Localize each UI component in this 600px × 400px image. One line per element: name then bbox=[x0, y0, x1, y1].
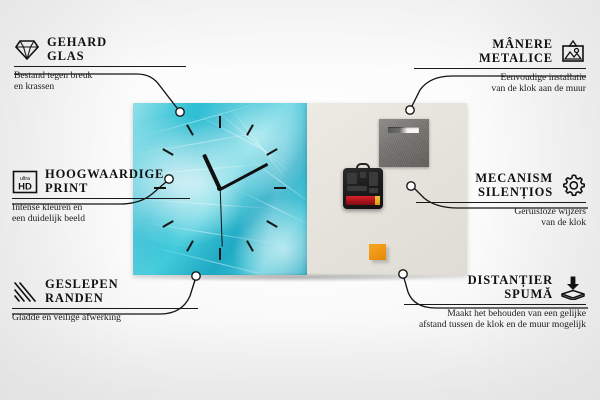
callout-title: DISTANȚIER SPUMĂ bbox=[468, 274, 553, 301]
mechanism-detail bbox=[347, 186, 367, 191]
callout-rule bbox=[416, 202, 586, 203]
callout-subtitle: Eenvoudige installatie van de klok aan d… bbox=[414, 72, 586, 95]
clock-tick bbox=[274, 187, 286, 189]
metal-hanger-plate bbox=[379, 119, 429, 167]
callout-head: GEHARD GLAS bbox=[14, 36, 186, 63]
hanger-slot bbox=[388, 127, 419, 133]
callout-title: HOOGWAARDIGE PRINT bbox=[45, 168, 164, 195]
mechanism-detail bbox=[369, 172, 378, 186]
callout-title: MECANISM SILENȚIOS bbox=[475, 172, 553, 199]
callout-gehard-glas[interactable]: GEHARD GLAS Bestand tegen breuk en krass… bbox=[14, 36, 186, 93]
mechanism-detail bbox=[360, 172, 366, 178]
callout-subtitle: Maakt het behouden van een gelijke afsta… bbox=[404, 308, 586, 331]
callout-title: MÂNERE METALICE bbox=[479, 38, 553, 65]
callout-geslepen-randen[interactable]: GESLEPEN RANDEN Gladde en veilige afwerk… bbox=[12, 278, 198, 323]
clock-mechanism bbox=[343, 168, 383, 209]
callout-subtitle: Geruisloze wijzers van de klok bbox=[416, 206, 586, 229]
gear-icon bbox=[560, 173, 586, 199]
callout-rule bbox=[14, 66, 186, 67]
mechanism-detail bbox=[369, 188, 378, 193]
infographic-canvas: GEHARD GLAS Bestand tegen breuk en krass… bbox=[0, 0, 600, 400]
callout-rule bbox=[404, 304, 586, 305]
callout-head: GESLEPEN RANDEN bbox=[12, 278, 198, 305]
callout-manere-metalice[interactable]: MÂNERE METALICE Eenvoudige installatie v… bbox=[414, 38, 586, 95]
callout-head: ultra HD HOOGWAARDIGE PRINT bbox=[12, 168, 190, 195]
callout-subtitle: Gladde en veilige afwerking bbox=[12, 312, 198, 323]
battery-terminal bbox=[375, 196, 380, 205]
diamond-icon bbox=[14, 37, 40, 63]
diagonal-lines-icon bbox=[12, 279, 38, 305]
mechanism-detail bbox=[347, 173, 357, 184]
clock-battery bbox=[346, 196, 380, 205]
callout-head: DISTANȚIER SPUMĂ bbox=[404, 274, 586, 301]
callout-head: MECANISM SILENȚIOS bbox=[416, 172, 586, 199]
clock-tick bbox=[219, 116, 221, 128]
callout-rule bbox=[414, 68, 586, 69]
svg-text:HD: HD bbox=[18, 181, 32, 192]
callout-distantier-spuma[interactable]: DISTANȚIER SPUMĂ Maakt het behouden van … bbox=[404, 274, 586, 331]
callout-title: GEHARD GLAS bbox=[47, 36, 107, 63]
callout-head: MÂNERE METALICE bbox=[414, 38, 586, 65]
clock-center-cap bbox=[217, 186, 222, 191]
callout-hoogwaardige-print[interactable]: ultra HD HOOGWAARDIGE PRINT Intense kleu… bbox=[12, 168, 190, 225]
callout-mecanism-silentios[interactable]: MECANISM SILENȚIOS Geruisloze wijzers va… bbox=[416, 172, 586, 229]
hanging-picture-icon bbox=[560, 39, 586, 65]
callout-title: GESLEPEN RANDEN bbox=[45, 278, 119, 305]
ultra-hd-icon: ultra HD bbox=[12, 169, 38, 195]
arrow-down-layer-icon bbox=[560, 275, 586, 301]
clock-tick bbox=[219, 248, 221, 260]
foam-spacer bbox=[369, 244, 386, 260]
callout-rule bbox=[12, 198, 190, 199]
callout-rule bbox=[12, 308, 198, 309]
callout-subtitle: Bestand tegen breuk en krassen bbox=[14, 70, 186, 93]
callout-subtitle: Intense kleuren en een duidelijk beeld bbox=[12, 202, 190, 225]
